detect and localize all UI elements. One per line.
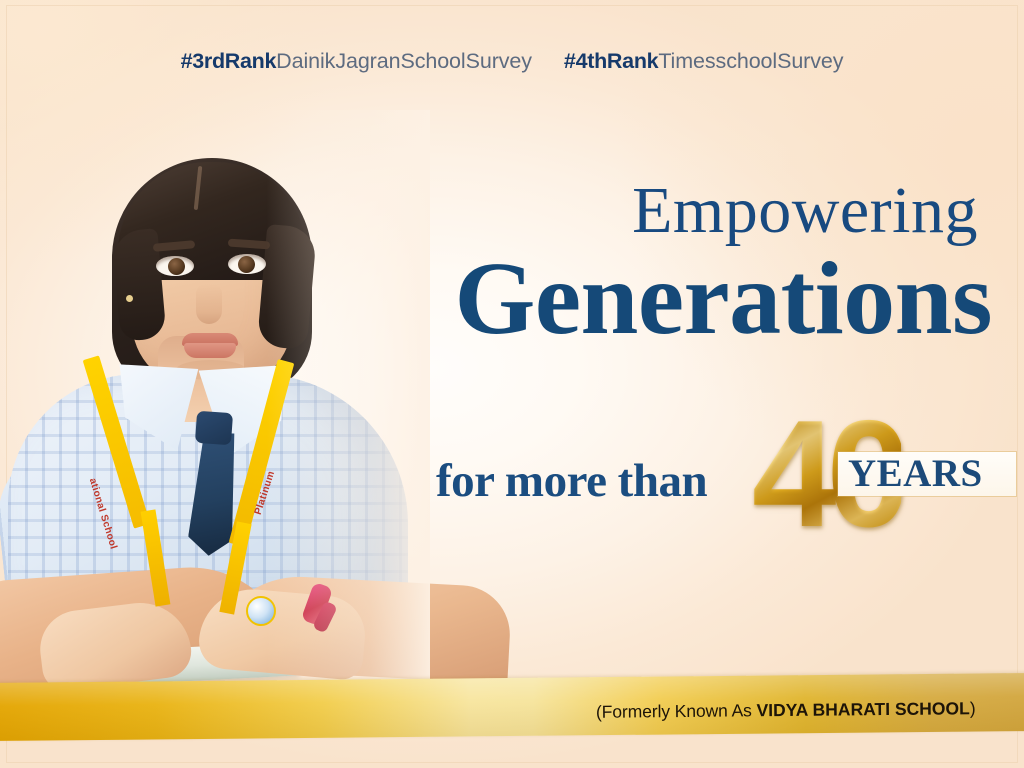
headline-line-2: Generations <box>360 246 1000 352</box>
footer-formerly-text: (Formerly Known As VIDYA BHARATI SCHOOL) <box>596 700 976 721</box>
rank-tag-2: #4thRank <box>564 49 658 73</box>
rank-item-1: #3rdRankDainikJagranSchoolSurvey <box>181 51 532 73</box>
rank-survey-2: TimesschoolSurvey <box>658 49 843 73</box>
iris-right <box>238 256 255 273</box>
earring <box>126 295 133 302</box>
footer-school-name: VIDYA BHARATI SCHOOL <box>757 698 970 720</box>
headline-line-1: Empowering <box>360 178 1000 244</box>
rank-survey-1: DainikJagranSchoolSurvey <box>276 49 532 73</box>
rank-item-2: #4thRankTimesschoolSurvey <box>564 51 843 73</box>
lanyard-badge <box>246 596 276 626</box>
necktie-knot <box>195 411 233 445</box>
headline-block: Empowering Generations <box>360 178 1000 352</box>
anniversary-block: for more than 40 YEARS <box>360 420 1010 550</box>
lip-lower <box>184 343 236 358</box>
rank-bar: #3rdRankDainikJagranSchoolSurvey #4thRan… <box>0 51 1024 73</box>
footer-suffix: ) <box>970 698 976 718</box>
promo-banner: #3rdRankDainikJagranSchoolSurvey #4thRan… <box>0 0 1024 768</box>
anniversary-unit: YEARS <box>848 454 983 494</box>
anniversary-prefix: for more than <box>436 458 707 505</box>
footer-prefix: (Formerly Known As <box>596 700 757 722</box>
anniversary-gold-lockup: 40 YEARS <box>752 398 1004 550</box>
iris-left <box>168 258 185 275</box>
rank-tag-1: #3rdRank <box>181 49 277 73</box>
nose <box>196 284 222 324</box>
